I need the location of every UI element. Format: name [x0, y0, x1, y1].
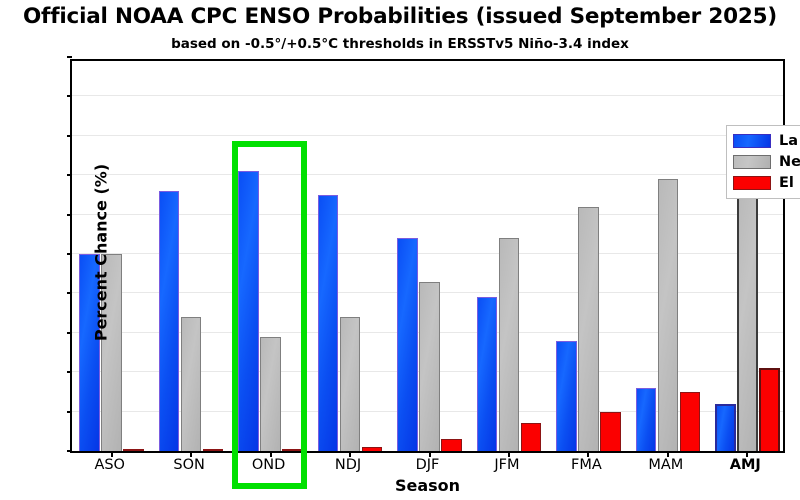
bar-la-nina-fma: [556, 341, 577, 451]
bar-neutral-djf: [419, 282, 440, 451]
bar-neutral-amj: [737, 187, 758, 451]
bar-neutral-son: [181, 317, 202, 451]
y-tick-mark: [67, 253, 72, 255]
bar-la-nina-amj: [715, 404, 736, 451]
legend-swatch-neutral: [733, 155, 771, 169]
legend-item-la-nina: La Nina: [733, 130, 800, 151]
y-tick-mark: [67, 292, 72, 294]
gridline: [72, 95, 783, 96]
bar-el-nino-djf: [441, 439, 462, 451]
y-tick-mark: [67, 95, 72, 97]
bar-neutral-ndj: [340, 317, 361, 451]
legend-label-la-nina: La Nina: [779, 133, 800, 149]
x-tick-label-ndj: NDJ: [308, 457, 388, 473]
legend-swatch-la-nina: [733, 134, 771, 148]
chart-title: Official NOAA CPC ENSO Probabilities (is…: [0, 4, 800, 29]
y-tick-mark: [67, 411, 72, 413]
y-tick-mark: [67, 214, 72, 216]
y-tick-mark: [67, 174, 72, 176]
bar-la-nina-djf: [397, 238, 418, 451]
chart-legend: La Nina Neutral El Nino: [726, 125, 800, 199]
bar-la-nina-ndj: [318, 195, 339, 451]
bar-el-nino-ndj: [362, 447, 383, 451]
bar-el-nino-aso: [123, 449, 144, 451]
bar-la-nina-son: [159, 191, 180, 451]
y-axis-label: Percent Chance (%): [92, 56, 111, 450]
bar-la-nina-ond: [238, 171, 259, 451]
bar-el-nino-son: [203, 449, 224, 451]
x-tick-label-amj: AMJ: [705, 457, 785, 473]
plot-area: 0102030405060708090100 Percent Chance (%…: [70, 59, 785, 453]
bar-la-nina-mam: [636, 388, 657, 451]
legend-label-neutral: Neutral: [779, 154, 800, 170]
y-tick-mark: [67, 332, 72, 334]
bar-la-nina-jfm: [477, 297, 498, 451]
x-tick-label-son: SON: [149, 457, 229, 473]
x-tick-label-mam: MAM: [626, 457, 706, 473]
legend-swatch-el-nino: [733, 176, 771, 190]
bar-neutral-jfm: [499, 238, 520, 451]
y-tick-mark: [67, 135, 72, 137]
bar-el-nino-fma: [600, 412, 621, 451]
bar-el-nino-ond: [282, 449, 303, 451]
legend-label-el-nino: El Nino: [779, 175, 800, 191]
gridline: [72, 174, 783, 175]
x-tick-label-ond: OND: [229, 457, 309, 473]
x-tick-label-jfm: JFM: [467, 457, 547, 473]
legend-item-el-nino: El Nino: [733, 172, 800, 193]
x-tick-label-fma: FMA: [546, 457, 626, 473]
y-tick-mark: [67, 56, 72, 58]
legend-item-neutral: Neutral: [733, 151, 800, 172]
x-axis-label: Season: [70, 476, 785, 495]
bar-neutral-fma: [578, 207, 599, 451]
bar-el-nino-amj: [759, 368, 780, 451]
bar-el-nino-mam: [680, 392, 701, 451]
y-tick-mark: [67, 450, 72, 452]
x-tick-label-djf: DJF: [388, 457, 468, 473]
bar-el-nino-jfm: [521, 423, 542, 451]
bar-neutral-ond: [260, 337, 281, 451]
bar-neutral-mam: [658, 179, 679, 451]
gridline: [72, 135, 783, 136]
y-tick-mark: [67, 371, 72, 373]
enso-probability-chart-figure: Official NOAA CPC ENSO Probabilities (is…: [0, 0, 800, 500]
x-tick-label-aso: ASO: [70, 457, 150, 473]
chart-subtitle: based on -0.5°/+0.5°C thresholds in ERSS…: [0, 36, 800, 52]
